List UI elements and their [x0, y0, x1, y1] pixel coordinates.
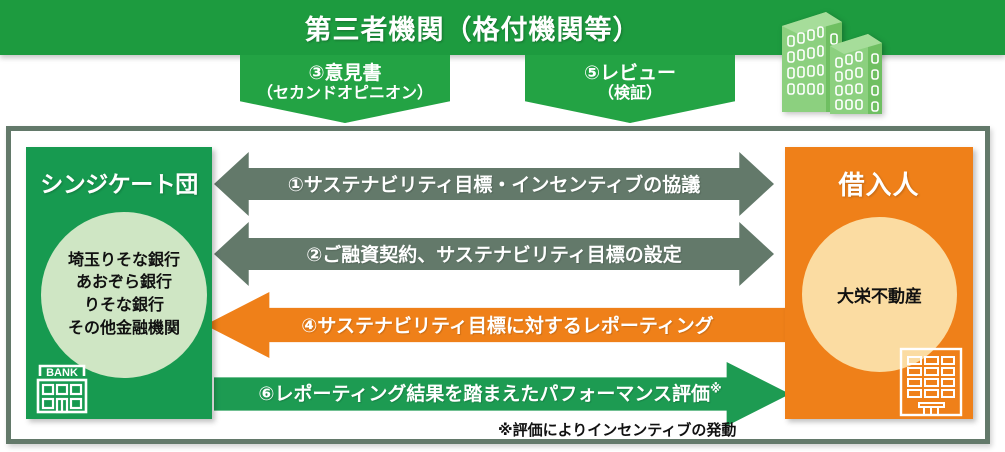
- footnote-text: ※評価によりインセンティブの発動: [498, 419, 736, 440]
- callout-second-opinion[interactable]: ③意見書 （セカンドオピニオン）: [240, 55, 450, 123]
- office-building-icon: [897, 345, 965, 419]
- office-buildings-icon: [764, 4, 888, 116]
- list-item: あおぞら銀行: [76, 272, 172, 295]
- callout-opinion-line2: （セカンドオピニオン）: [240, 85, 450, 103]
- flow-arrow-6-label: ⑥レポーティング結果を踏まえたパフォーマンス評価※: [258, 379, 721, 406]
- bank-building-icon: BANK: [32, 358, 92, 416]
- callout-opinion-line1: ③意見書: [240, 63, 450, 85]
- callout-review[interactable]: ⑤レビュー （検証）: [525, 55, 735, 123]
- syndicate-title: シンジケート団: [26, 165, 212, 199]
- syndicate-members-circle: 埼玉りそな銀行 あおぞら銀行 りそな銀行 その他金融機関: [41, 212, 207, 378]
- borrower-company-name: 大栄不動産: [837, 282, 922, 307]
- callout-review-line1: ⑤レビュー: [525, 63, 735, 85]
- list-item: その他金融機関: [68, 318, 180, 341]
- borrower-title: 借入人: [785, 165, 973, 202]
- list-item: 埼玉りそな銀行: [68, 250, 180, 273]
- flow-arrow-1-label: ①サステナビリティ目標・インセンティブの協議: [288, 170, 700, 197]
- diagram-canvas: 第三者機関（格付機関等）: [0, 0, 1005, 452]
- svg-text:BANK: BANK: [46, 367, 78, 379]
- flow-arrow-6-suffix: ※: [710, 381, 722, 395]
- list-item: りそな銀行: [84, 295, 164, 318]
- flow-arrow-2-label: ②ご融資契約、サステナビリティ目標の設定: [306, 240, 682, 267]
- callout-review-line2: （検証）: [525, 85, 735, 103]
- flow-arrow-4-label: ④サステナビリティ目標に対するレポーティング: [301, 311, 713, 338]
